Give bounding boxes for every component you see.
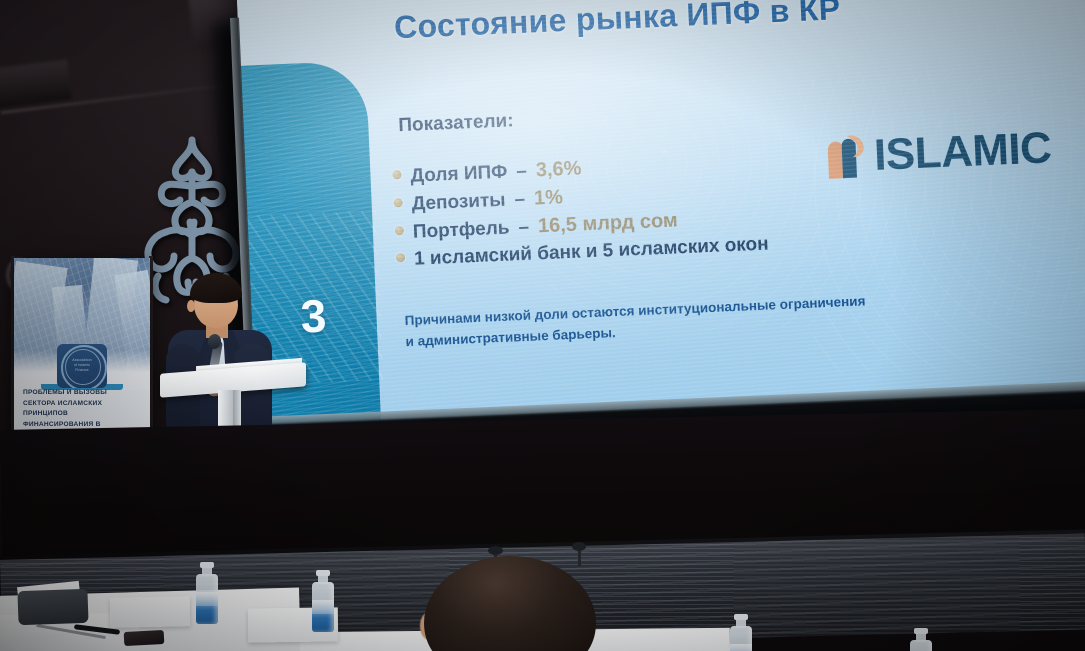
slide-surface: 3 Состояние рынка ИПФ в КР Показатели: Д…	[236, 0, 1085, 426]
banner-title-line: ПРИНЦИПОВ	[23, 409, 143, 420]
banner-title-line: ПРОБЛЕМЫ И ВЫЗОВЫ	[23, 388, 143, 399]
water-bottle	[196, 562, 218, 624]
table-mic-head-icon	[572, 542, 586, 551]
water-bottle	[730, 614, 752, 651]
audience-hair	[424, 556, 596, 651]
logo-line-3: Finance	[66, 368, 98, 373]
projector-scanlines	[236, 0, 1085, 426]
presentation-photo: 3 Состояние рынка ИПФ в КР Показатели: Д…	[0, 0, 1085, 651]
banner-logo: Association of Islamic Finance	[57, 344, 107, 388]
water-bottle	[312, 570, 334, 632]
bottle-label	[312, 600, 334, 614]
bottle-label	[196, 592, 218, 606]
smartphone	[124, 630, 165, 646]
bottle-cap	[316, 570, 330, 576]
name-tent	[110, 596, 191, 628]
banner-title-line: СЕКТОРА ИСЛАМСКИХ	[23, 399, 143, 410]
water-bottle	[910, 628, 932, 651]
banner-logo-text: Association of Islamic Finance	[66, 358, 98, 374]
speaker-hair	[190, 273, 242, 303]
bottle-cap	[200, 562, 214, 568]
table-mic-head-icon	[488, 546, 503, 555]
laptop-bag	[17, 589, 88, 625]
bottle-cap	[914, 628, 928, 634]
bottle-cap	[734, 614, 748, 620]
projection-screen: 3 Состояние рынка ИПФ в КР Показатели: Д…	[236, 0, 1085, 426]
speaker-ear	[187, 300, 195, 312]
bottle-label	[730, 644, 752, 651]
audience-head	[424, 556, 596, 651]
